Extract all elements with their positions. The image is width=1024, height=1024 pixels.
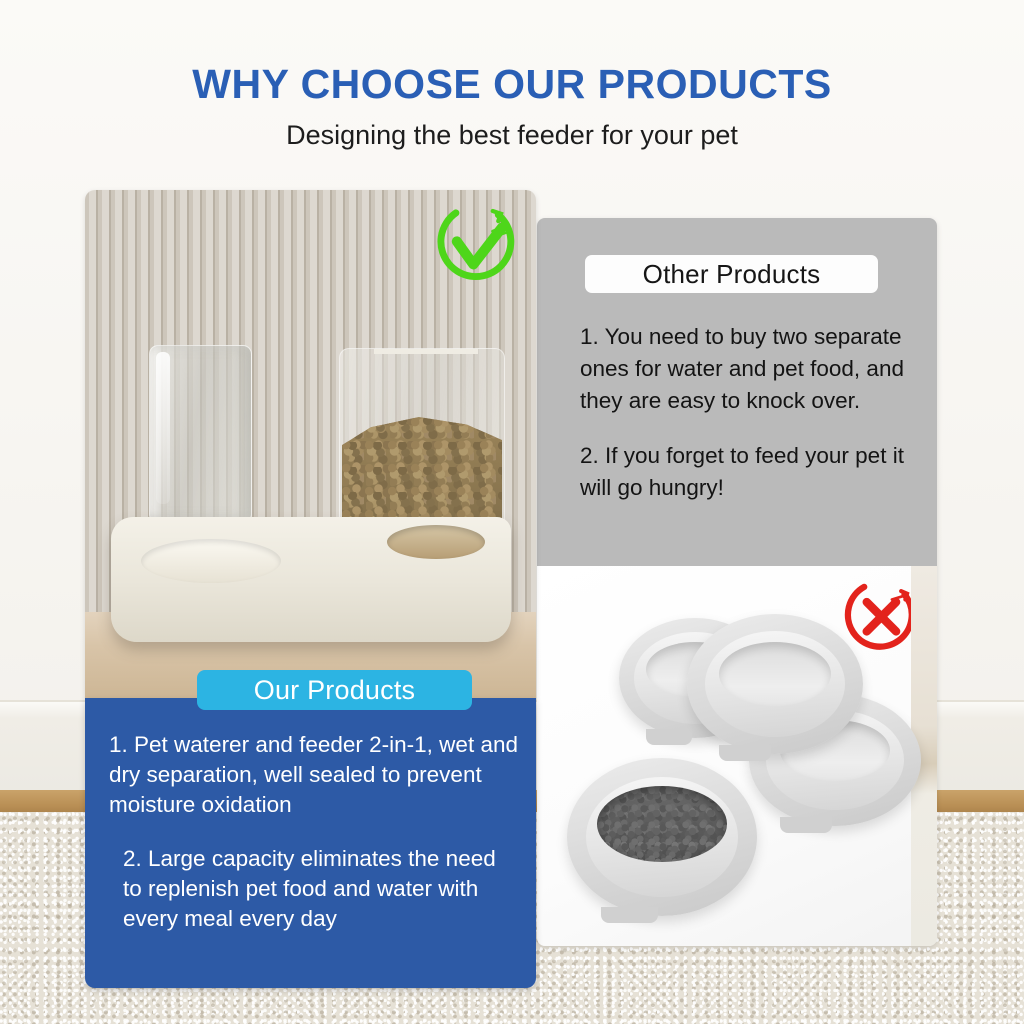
other-products-badge: Other Products [585,255,878,293]
page-subtitle: Designing the best feeder for your pet [0,119,1024,151]
infographic-page: WHY CHOOSE OUR PRODUCTS Designing the be… [0,0,1024,1024]
our-products-badge: Our Products [197,670,472,710]
feeder-base-tray [111,517,511,642]
other-products-point-1: 1. You need to buy two separate ones for… [580,321,910,417]
water-bottle [149,345,252,520]
our-products-points: 1. Pet waterer and feeder 2-in-1, wet an… [109,730,519,934]
pet-bowl [687,614,863,754]
pet-feeder-2-in-1 [111,252,511,642]
kibble-pile [597,786,726,862]
other-products-photo [537,566,937,946]
our-products-panel: Our Products 1. Pet waterer and feeder 2… [85,698,536,988]
pet-bowl-with-food [567,758,757,916]
other-products-text-panel: Other Products 1. You need to buy two se… [537,218,937,566]
header: WHY CHOOSE OUR PRODUCTS Designing the be… [0,62,1024,151]
our-product-photo [85,190,536,698]
hopper-lid [374,348,478,354]
other-products-card: Other Products 1. You need to buy two se… [537,218,937,946]
other-products-points: 1. You need to buy two separate ones for… [580,321,910,504]
check-circle-icon [432,200,524,292]
page-title: WHY CHOOSE OUR PRODUCTS [0,62,1024,107]
our-products-point-1: 1. Pet waterer and feeder 2-in-1, wet an… [109,730,519,820]
our-products-point-2: 2. Large capacity eliminates the need to… [109,844,519,934]
other-products-point-2: 2. If you forget to feed your pet it wil… [580,440,910,504]
